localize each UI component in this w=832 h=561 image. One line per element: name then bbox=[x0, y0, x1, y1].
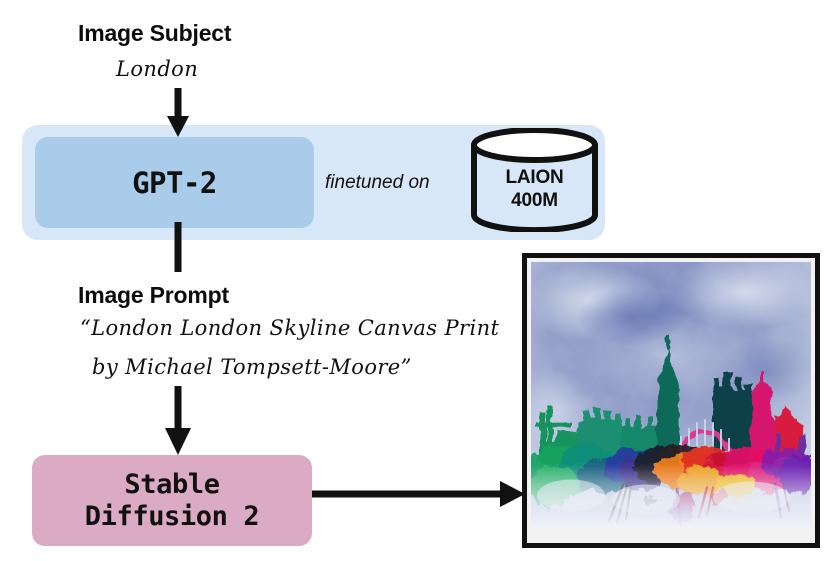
image-subject-header: Image Subject bbox=[78, 20, 231, 47]
image-prompt-line-1: “London London Skyline Canvas Print bbox=[80, 316, 499, 340]
pipeline-diagram: Image Subject London GPT-2 finetuned on … bbox=[0, 0, 832, 561]
database-cylinder-icon: LAION 400M bbox=[469, 128, 600, 232]
stable-diffusion-model-box[interactable]: Stable Diffusion 2 bbox=[32, 455, 312, 546]
gpt2-label: GPT-2 bbox=[132, 166, 217, 200]
image-prompt-line-2: by Michael Tompsett-Moore” bbox=[92, 355, 412, 379]
generated-artwork bbox=[531, 262, 811, 529]
image-subject-value: London bbox=[116, 57, 198, 81]
image-prompt-header: Image Prompt bbox=[78, 282, 229, 309]
arrow-down-icon-prompt-to-sd bbox=[165, 386, 191, 455]
dataset-size: 400M bbox=[469, 190, 600, 212]
stable-diffusion-label-line2: Diffusion 2 bbox=[85, 501, 259, 533]
gpt2-model-box[interactable]: GPT-2 bbox=[35, 137, 314, 228]
generated-image-frame bbox=[522, 253, 820, 548]
finetuned-on-caption: finetuned on bbox=[325, 172, 430, 194]
dataset-name: LAION bbox=[469, 167, 600, 189]
stable-diffusion-label-line1: Stable bbox=[124, 469, 219, 501]
arrow-right-icon-sd-to-image bbox=[312, 481, 525, 507]
image-mat bbox=[527, 258, 815, 543]
